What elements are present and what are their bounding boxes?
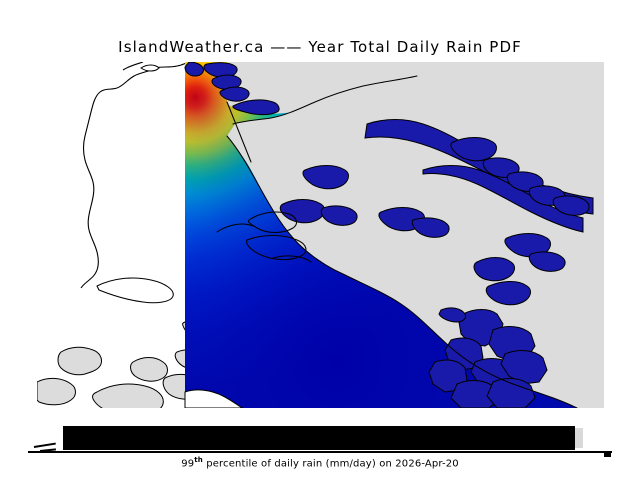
colorbar[interactable] [63, 426, 575, 450]
colorbar-gradient-bar [63, 426, 575, 450]
map-canvas[interactable] [37, 62, 604, 408]
colorbar-caption: 99th percentile of daily rain (mm/day) o… [0, 456, 640, 469]
colorbar-axis-line [28, 451, 612, 453]
caption-prefix: 99 [181, 458, 194, 469]
caption-superscript: th [194, 456, 203, 464]
colorbar-tick-left-upper [34, 443, 56, 448]
page-title: IslandWeather.ca —— Year Total Daily Rai… [0, 38, 640, 56]
weather-map-page: IslandWeather.ca —— Year Total Daily Rai… [0, 0, 640, 480]
map-panel[interactable] [37, 62, 604, 408]
colorbar-end-cap [575, 428, 583, 448]
caption-suffix: percentile of daily rain (mm/day) on 202… [203, 458, 459, 469]
